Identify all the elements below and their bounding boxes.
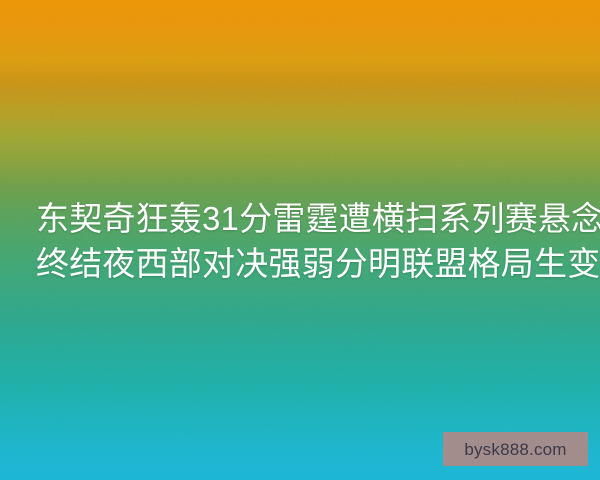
watermark-badge: bysk888.com xyxy=(443,432,588,466)
headline-line-1: 东契奇狂轰31分雷霆遭横扫系列赛悬念 xyxy=(36,196,568,241)
headline-line-2: 终结夜西部对决强弱分明联盟格局生变 xyxy=(36,241,568,286)
watermark-label: bysk888.com xyxy=(464,441,566,458)
headline-text: 东契奇狂轰31分雷霆遭横扫系列赛悬念 终结夜西部对决强弱分明联盟格局生变 xyxy=(36,196,568,286)
news-headline-card: 东契奇狂轰31分雷霆遭横扫系列赛悬念 终结夜西部对决强弱分明联盟格局生变 bys… xyxy=(0,0,600,480)
